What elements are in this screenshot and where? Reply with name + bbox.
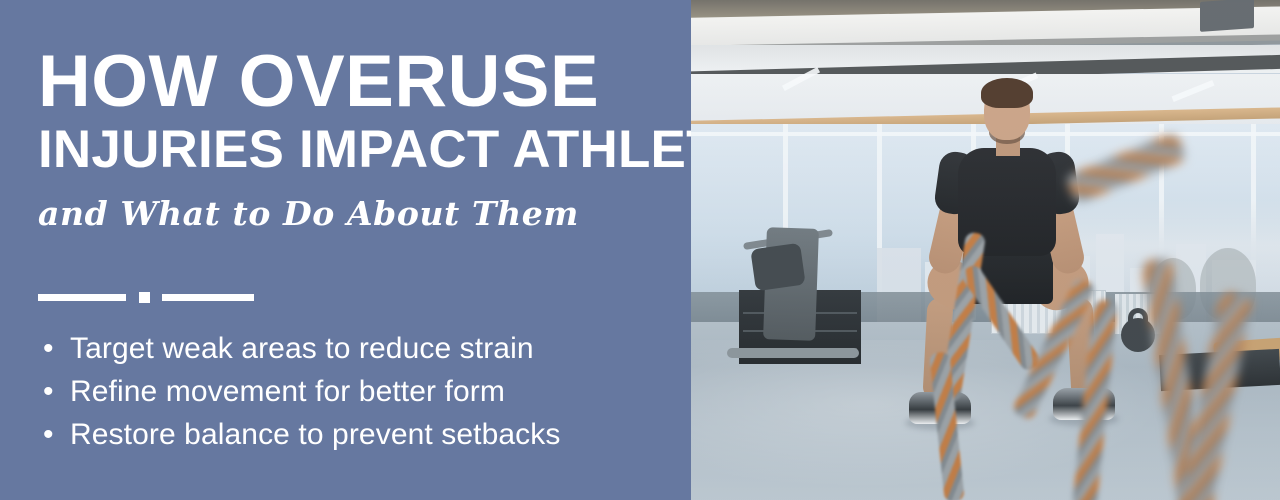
divider-square-icon [139,292,150,303]
subtitle-script: and What to Do About Them [38,194,579,233]
gym-photo [691,0,1280,500]
bullet-text: Restore balance to prevent setbacks [70,417,560,453]
athlete-hair [981,78,1033,108]
list-item: • Refine movement for better form [38,374,658,417]
overuse-injuries-banner: HOW OVERUSE INJURIES IMPACT ATHLETES and… [0,0,1280,500]
window-transom [691,132,1280,136]
headline-line-2: INJURIES IMPACT ATHLETES [38,122,658,178]
divider-bar-right [162,294,254,301]
divider-bar-left [38,294,126,301]
list-item: • Target weak areas to reduce strain [38,331,658,374]
list-item: • Restore balance to prevent setbacks [38,417,658,460]
gym-photo-illustration [691,0,1280,500]
bullet-marker-icon: • [38,374,70,410]
bullet-marker-icon: • [38,331,70,367]
headline-block: HOW OVERUSE INJURIES IMPACT ATHLETES [38,46,658,177]
ornament-divider [38,291,254,303]
headline-line-1: HOW OVERUSE [38,46,658,118]
benefit-bullet-list: • Target weak areas to reduce strain • R… [38,331,658,460]
wall-speaker-icon [1200,0,1254,32]
exercise-machine-seat [750,243,805,292]
bullet-marker-icon: • [38,417,70,453]
bullet-text: Target weak areas to reduce strain [70,331,534,367]
left-content-panel: HOW OVERUSE INJURIES IMPACT ATHLETES and… [0,0,691,500]
exercise-machine-base [727,348,859,358]
bullet-text: Refine movement for better form [70,374,505,410]
